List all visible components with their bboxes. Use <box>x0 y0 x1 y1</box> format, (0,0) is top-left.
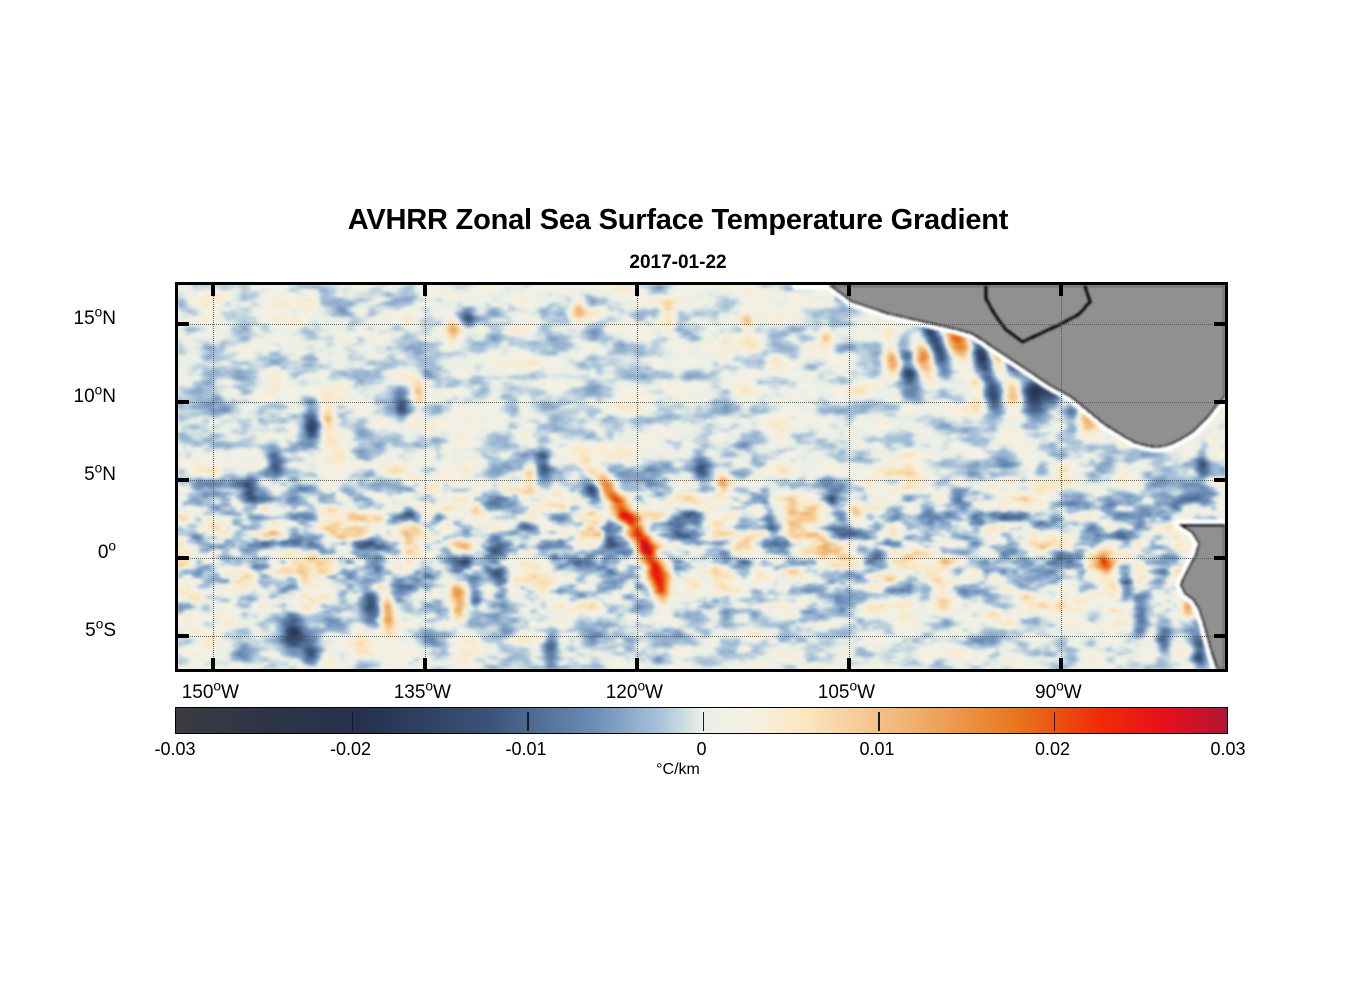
map-axes <box>175 282 1228 672</box>
y-tick-right <box>1214 634 1225 638</box>
gridline-lat <box>178 636 1225 637</box>
colorbar-tick <box>1054 712 1056 731</box>
x-axis-tick-label: 120oW <box>574 682 694 704</box>
colorbar-tick-label: -0.02 <box>291 739 411 760</box>
gridline-lat <box>178 480 1225 481</box>
y-tick <box>178 400 189 404</box>
y-axis-tick-label: 5oS <box>0 620 116 642</box>
y-tick <box>178 478 189 482</box>
gridline-lon <box>425 285 426 669</box>
colorbar-tick-label: 0.01 <box>817 739 937 760</box>
x-tick-top <box>423 285 427 296</box>
x-tick <box>635 658 639 669</box>
x-tick-top <box>635 285 639 296</box>
colorbar-tick <box>527 712 529 731</box>
x-tick-top <box>847 285 851 296</box>
x-tick <box>211 658 215 669</box>
y-axis-tick-label: 0o <box>0 542 116 564</box>
colorbar <box>175 707 1228 734</box>
colorbar-tick-label: -0.03 <box>115 739 235 760</box>
y-tick <box>178 556 189 560</box>
colorbar-gradient <box>176 708 1227 733</box>
y-axis-tick-label: 15oN <box>0 308 116 330</box>
gridline-lon <box>849 285 850 669</box>
y-tick <box>178 322 189 326</box>
x-axis-tick-label: 135oW <box>362 682 482 704</box>
page-title: AVHRR Zonal Sea Surface Temperature Grad… <box>0 204 1356 237</box>
x-tick-top <box>1059 285 1063 296</box>
gridline-lon <box>213 285 214 669</box>
colorbar-unit-label: °C/km <box>0 761 1356 779</box>
y-tick-right <box>1214 400 1225 404</box>
colorbar-tick-label: 0.03 <box>1168 739 1288 760</box>
colorbar-tick-label: 0 <box>642 739 762 760</box>
gridline-lat <box>178 402 1225 403</box>
y-axis-tick-label: 5oN <box>0 464 116 486</box>
y-tick-right <box>1214 478 1225 482</box>
x-tick <box>847 658 851 669</box>
x-axis-tick-label: 105oW <box>786 682 906 704</box>
colorbar-tick <box>352 712 354 731</box>
sst-gradient-heatmap <box>178 285 1225 669</box>
y-tick <box>178 634 189 638</box>
colorbar-tick <box>703 712 705 731</box>
y-tick-right <box>1214 556 1225 560</box>
x-tick-top <box>211 285 215 296</box>
gridline-lon <box>637 285 638 669</box>
y-tick-right <box>1214 322 1225 326</box>
x-axis-tick-label: 90oW <box>998 682 1118 704</box>
colorbar-tick <box>878 712 880 731</box>
gridline-lat <box>178 558 1225 559</box>
colorbar-tick-label: -0.01 <box>466 739 586 760</box>
y-axis-tick-label: 10oN <box>0 386 116 408</box>
x-tick <box>423 658 427 669</box>
colorbar-tick-label: 0.02 <box>993 739 1113 760</box>
figure-subtitle-date: 2017-01-22 <box>0 252 1356 274</box>
gridline-lon <box>1061 285 1062 669</box>
gridline-lat <box>178 324 1225 325</box>
x-tick <box>1059 658 1063 669</box>
x-axis-tick-label: 150oW <box>150 682 270 704</box>
